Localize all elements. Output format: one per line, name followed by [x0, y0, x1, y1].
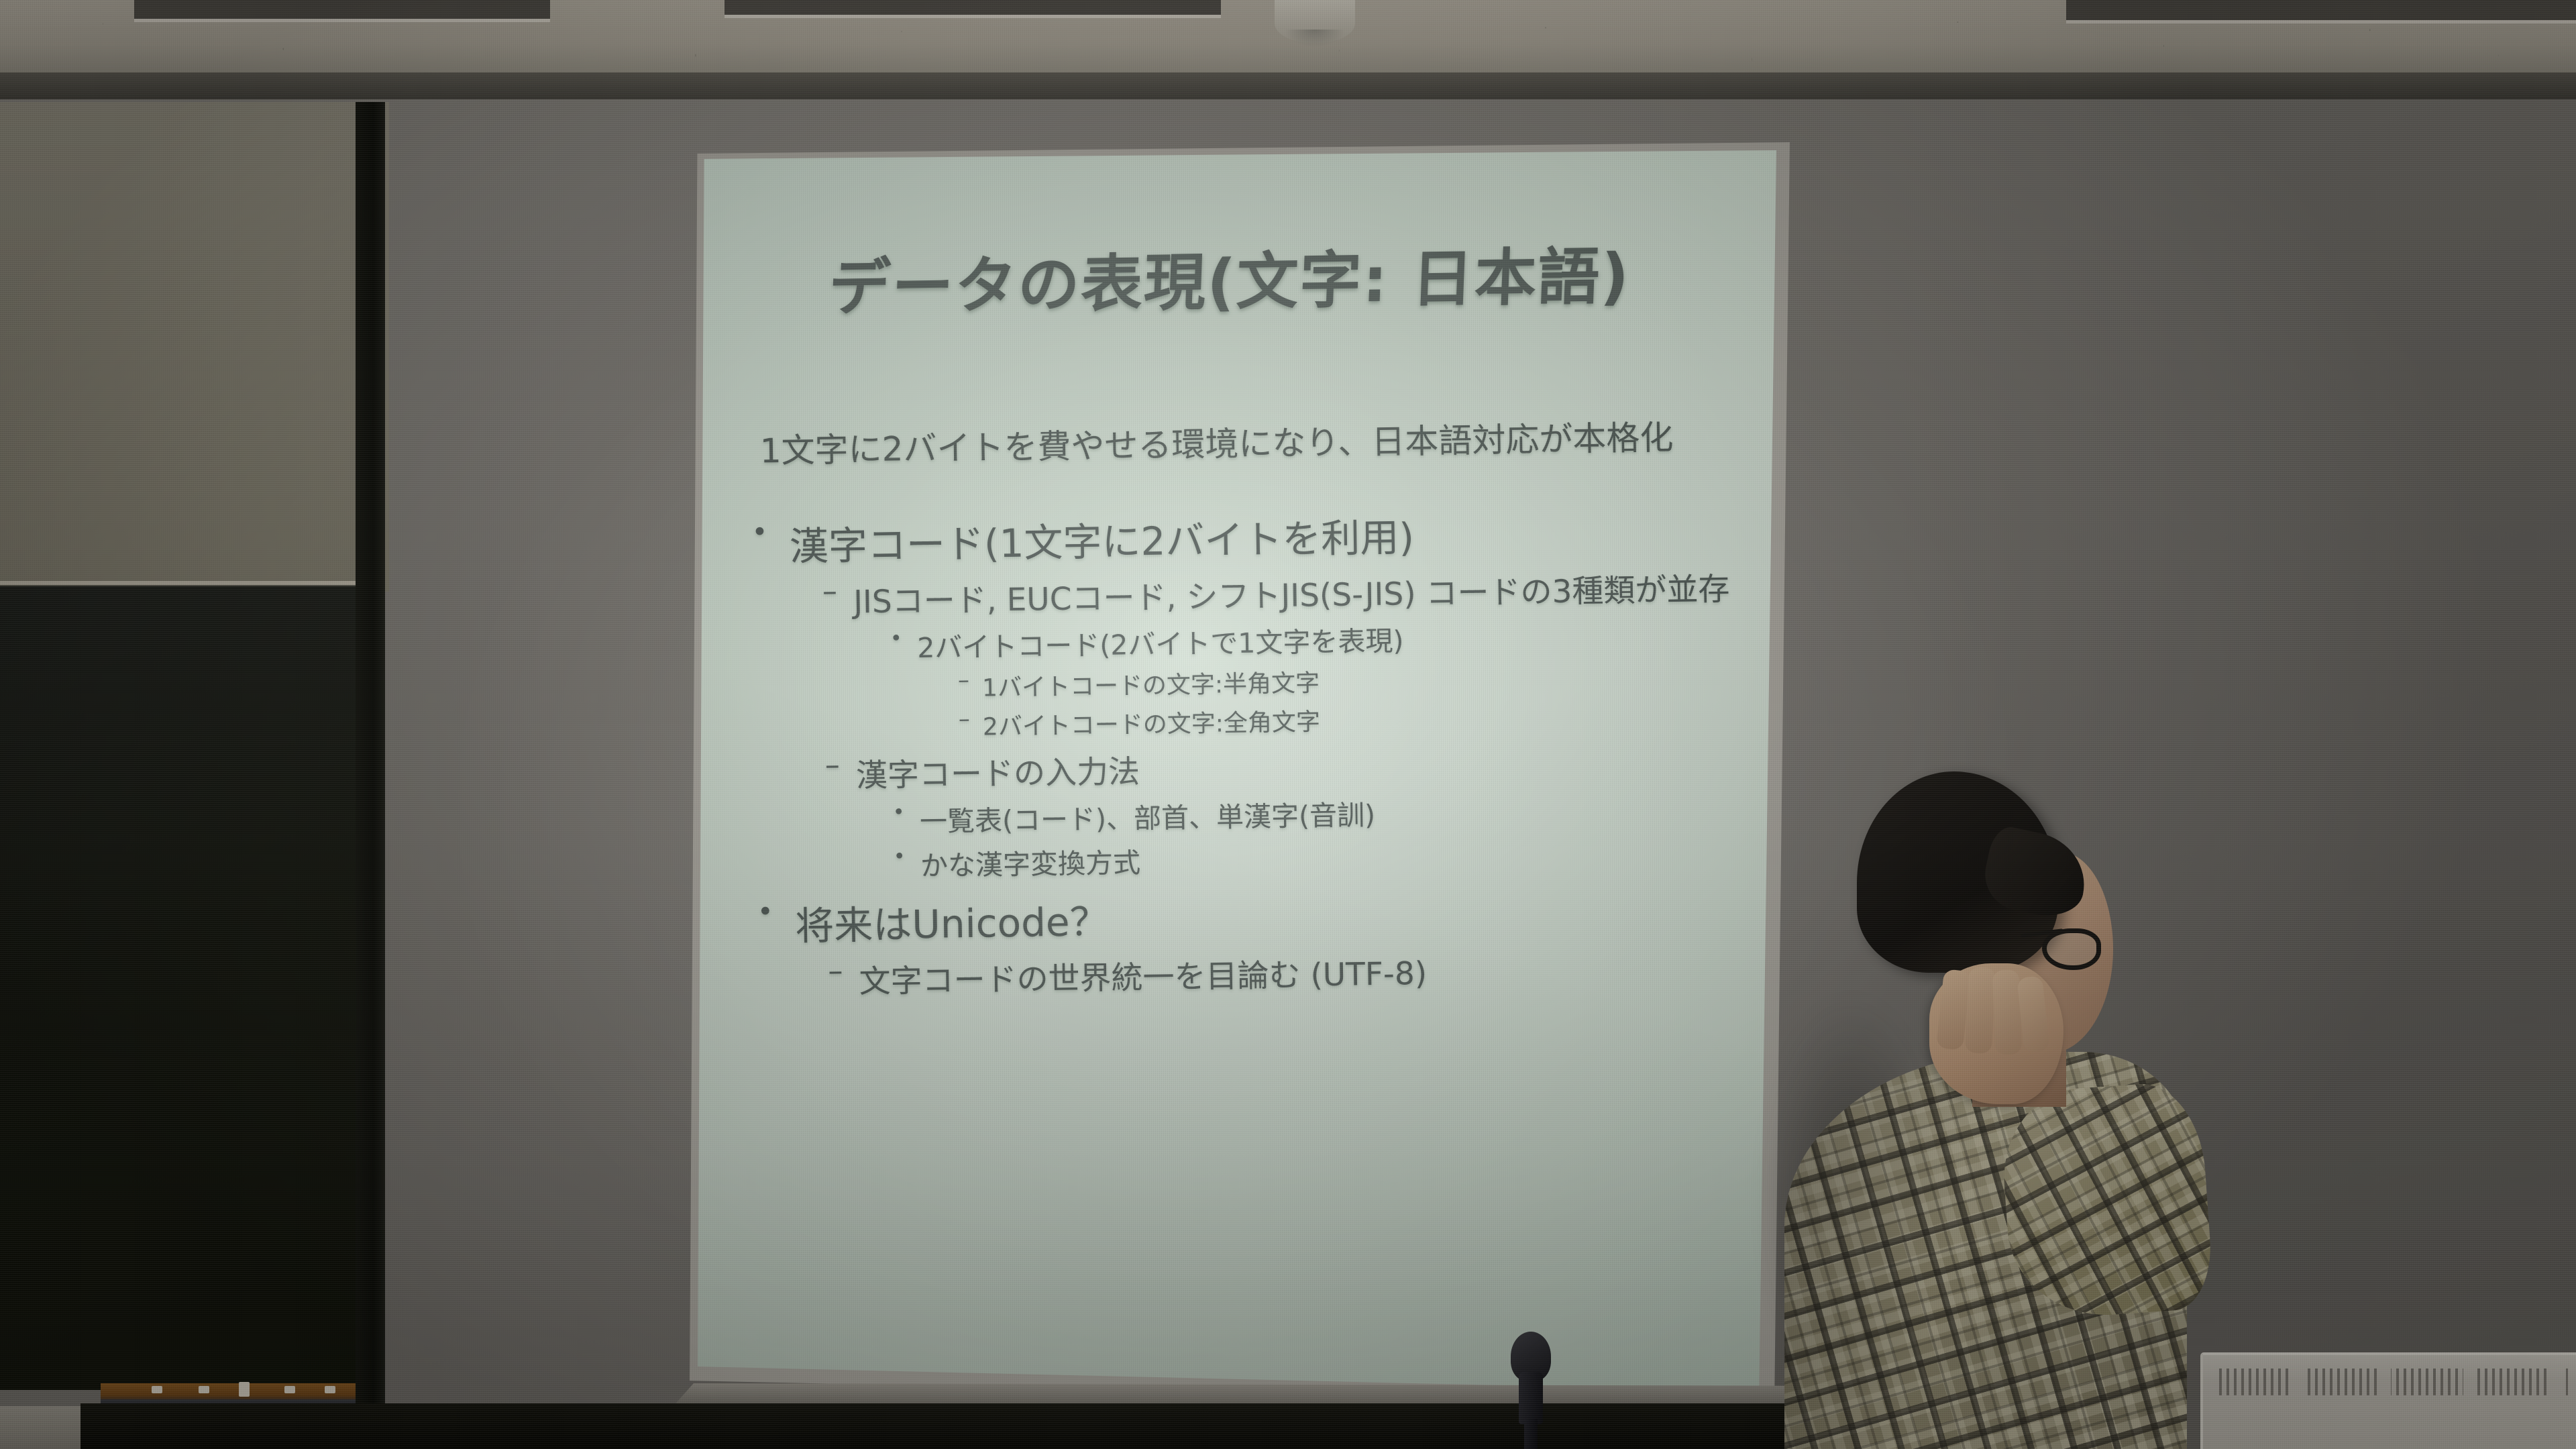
radiator: [2200, 1352, 2576, 1449]
bullet-item: • 漢字コード(1文字に2バイトを利用): [751, 500, 1773, 572]
projection-screen[interactable]: データの表現(文字: 日本語) 1文字に2バイトを費やせる環境になり、日本語対応…: [698, 150, 1776, 1391]
bullet-text: 漢字コードの入力法: [855, 736, 1776, 796]
bullet-item: • かな漢字変換方式: [894, 830, 1776, 884]
bullet-text: かな漢字変換方式: [920, 830, 1776, 883]
bullet-item: – 文字コードの世界統一を目論む (UTF-8): [828, 942, 1776, 1002]
bullet-text: 将来はUnicode？: [795, 880, 1776, 951]
bullet-item: – 漢字コードの入力法: [824, 736, 1776, 796]
bullet-item: • 2バイトコード(2バイトで1文字を表現): [890, 612, 1775, 666]
slide-title: データの表現(文字: 日本語): [698, 224, 1770, 329]
bullet-marker: –: [828, 955, 859, 987]
bullet-item: • 一覧表(コード)、部首、単漢字(音訓): [893, 786, 1776, 840]
bullet-text: 2バイトコードの文字:全角文字: [983, 696, 1776, 743]
slide-subtitle: 1文字に2バイトを費やせる環境になり、日本語対応が本格化: [759, 410, 1739, 473]
glasses-lens: [2042, 928, 2101, 970]
presenter-arm: [1998, 1080, 2215, 1322]
wall-pillar: [356, 102, 385, 1417]
bullet-marker: –: [959, 708, 983, 731]
plaid-sleeve-pattern: [1998, 1080, 2215, 1322]
radiator-vents: [2219, 1368, 2568, 1395]
bullet-text: 一覧表(コード)、部首、単漢字(音訓): [920, 786, 1776, 839]
chalk-piece: [239, 1382, 250, 1397]
ceiling-panel-center: [724, 0, 1221, 18]
bullet-text: 1バイトコードの文字:半角文字: [982, 657, 1776, 704]
bullet-item: – 2バイトコードの文字:全角文字: [959, 696, 1776, 743]
slide-content: データの表現(文字: 日本語) 1文字に2バイトを費やせる環境になり、日本語対応…: [698, 150, 1776, 1391]
bullet-item: • 将来はUnicode？: [757, 880, 1776, 952]
bullet-marker: –: [824, 749, 856, 781]
bullet-text: 文字コードの世界統一を目論む (UTF-8): [859, 942, 1776, 1002]
bullet-marker: –: [822, 576, 854, 607]
bullet-marker: •: [893, 799, 920, 826]
chalk-piece: [152, 1386, 162, 1393]
microphone[interactable]: [1507, 1332, 1554, 1449]
bullet-marker: •: [890, 625, 918, 653]
presenter-finger: [1965, 967, 1996, 1054]
ceiling-panel-left: [134, 0, 550, 22]
microphone-body: [1519, 1372, 1543, 1424]
chalk-piece: [284, 1386, 295, 1393]
bullet-item: – JISコード, EUCコード, シフトJIS(S-JIS) コードの3種類が…: [822, 562, 1774, 623]
bullet-text: 2バイトコード(2バイトで1文字を表現): [917, 612, 1775, 665]
presenter: [1784, 771, 2267, 1449]
bullet-item: – 1バイトコードの文字:半角文字: [958, 657, 1776, 704]
chalk-piece: [199, 1386, 209, 1393]
microphone-stand: [1524, 1419, 1538, 1449]
lecture-hall-scene: データの表現(文字: 日本語) 1文字に2バイトを費やせる環境になり、日本語対応…: [0, 0, 2576, 1449]
bullet-marker: •: [751, 515, 790, 549]
glasses-icon: [2021, 924, 2101, 962]
bullet-marker: –: [958, 669, 983, 692]
ceiling-light: [1275, 0, 1355, 43]
bullet-text: JISコード, EUCコード, シフトJIS(S-JIS) コードの3種類が並存: [853, 562, 1774, 622]
bullet-marker: •: [757, 895, 796, 929]
presenter-finger: [1992, 969, 2022, 1055]
slide-bullet-list: • 漢字コード(1文字に2バイトを利用) – JISコード, EUCコード, シ…: [698, 491, 1776, 1007]
bullet-marker: •: [894, 843, 921, 871]
blackboard: [0, 585, 356, 1390]
ceiling-panel-right: [2066, 0, 2576, 23]
ceiling-beam: [0, 72, 2576, 102]
chalk-piece: [325, 1386, 335, 1393]
wall-upper-left: [0, 102, 389, 592]
bullet-text: 漢字コード(1文字に2バイトを利用): [789, 500, 1773, 572]
